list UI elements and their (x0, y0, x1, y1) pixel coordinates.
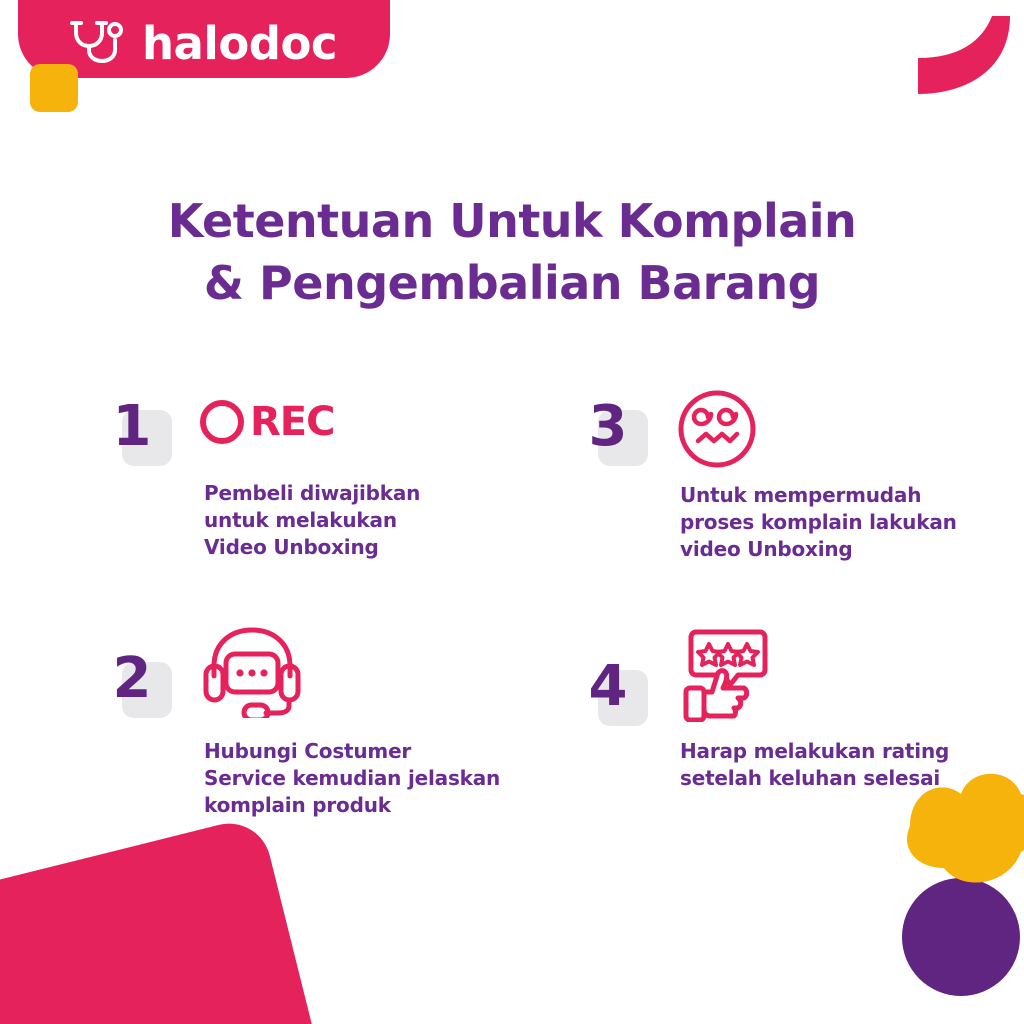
step-number-badge-3: 3 (580, 396, 648, 464)
yellow-cloud-shape (858, 756, 1024, 916)
desc-line: Pembeli diwajibkan (204, 480, 420, 507)
step-number: 4 (580, 656, 636, 718)
desc-line: Video Unboxing (204, 534, 420, 561)
swoosh-shape (892, 12, 1012, 104)
thumbs-up-rating-icon (676, 626, 772, 727)
desc-line: video Unboxing (680, 536, 957, 563)
step-description-2: Hubungi Costumer Service kemudian jelask… (204, 738, 500, 819)
step-number: 2 (104, 648, 160, 710)
step-description-1: Pembeli diwajibkan untuk melakukan Video… (204, 480, 420, 561)
step-number: 1 (104, 396, 160, 458)
desc-line: Service kemudian jelaskan (204, 765, 500, 792)
infographic-canvas: halodoc Ketentuan Untuk Komplain & Penge… (0, 0, 1024, 1024)
record-circle-icon (200, 400, 244, 444)
desc-line: komplain produk (204, 792, 500, 819)
rec-label: REC (250, 402, 334, 442)
step-number-badge-2: 2 (104, 648, 172, 716)
step-item-3: 3 Untuk mempermudah proses komplain laku… (540, 388, 964, 616)
stethoscope-icon (70, 20, 128, 64)
desc-line: proses komplain lakukan (680, 509, 957, 536)
yellow-square-shape (30, 64, 78, 112)
step-description-3: Untuk mempermudah proses komplain lakuka… (680, 482, 957, 563)
pink-rounded-rect-shape (0, 815, 330, 1024)
page-title-line-1: Ketentuan Untuk Komplain (0, 190, 1024, 252)
rec-icon: REC (200, 400, 334, 444)
desc-line: untuk melakukan (204, 507, 420, 534)
step-number-badge-1: 1 (104, 396, 172, 464)
step-number: 3 (580, 396, 636, 458)
desc-line: Hubungi Costumer (204, 738, 500, 765)
dizzy-face-icon (676, 388, 758, 475)
page-title: Ketentuan Untuk Komplain & Pengembalian … (0, 190, 1024, 314)
steps-grid: 1 REC Pembeli diwajibkan untuk melakukan… (104, 388, 964, 616)
step-number-badge-4: 4 (580, 656, 648, 724)
headset-support-icon (200, 622, 304, 723)
brand-name: halodoc (142, 22, 337, 66)
page-title-line-2: & Pengembalian Barang (0, 252, 1024, 314)
step-item-1: 1 REC Pembeli diwajibkan untuk melakukan… (104, 388, 540, 616)
desc-line: Untuk mempermudah (680, 482, 957, 509)
